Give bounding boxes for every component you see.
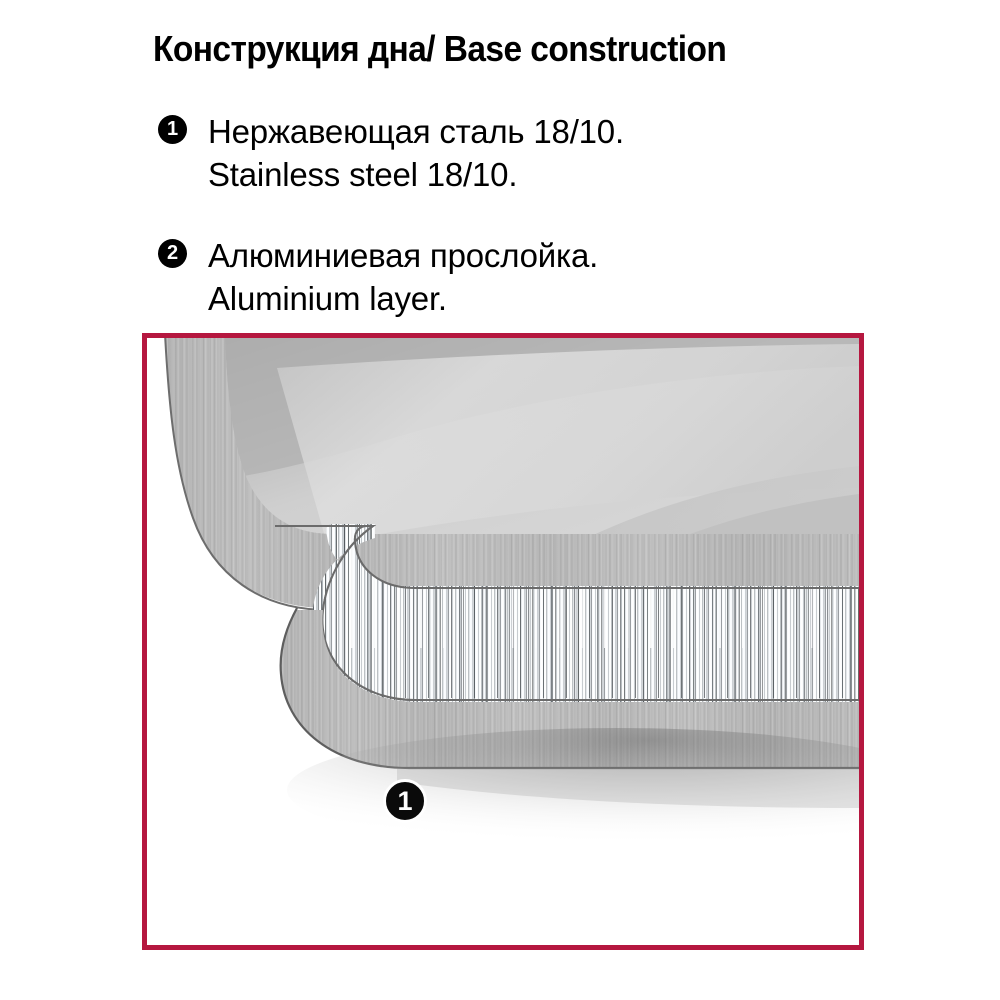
legend-text-1: Нержавеющая сталь 18/10. Stainless steel… <box>208 110 858 196</box>
legend-item-2-line-ru: Алюминиевая прослойка. <box>208 234 858 277</box>
legend-marker-1-icon: 1 <box>158 115 187 144</box>
page-root: Конструкция дна/ Base construction 1 Нер… <box>0 0 1000 1000</box>
legend-item-2-line-en: Aluminium layer. <box>208 277 858 320</box>
legend-text-2: Алюминиевая прослойка. Aluminium layer. <box>208 234 858 320</box>
legend-item-1-line-en: Stainless steel 18/10. <box>208 153 858 196</box>
cross-section-illustration: 1 2 <box>147 338 859 945</box>
legend-list: 1 Нержавеющая сталь 18/10. Stainless ste… <box>158 110 858 344</box>
legend-item-1-line-ru: Нержавеющая сталь 18/10. <box>208 110 858 153</box>
legend-item-2: 2 Алюминиевая прослойка. Aluminium layer… <box>158 234 858 320</box>
callout-marker-1: 1 <box>383 779 427 823</box>
legend-marker-2-icon: 2 <box>158 239 187 268</box>
legend-item-1: 1 Нержавеющая сталь 18/10. Stainless ste… <box>158 110 858 196</box>
cross-section-svg <box>147 338 859 945</box>
figure-frame: 1 2 <box>142 333 864 950</box>
page-title: Конструкция дна/ Base construction <box>153 28 897 70</box>
